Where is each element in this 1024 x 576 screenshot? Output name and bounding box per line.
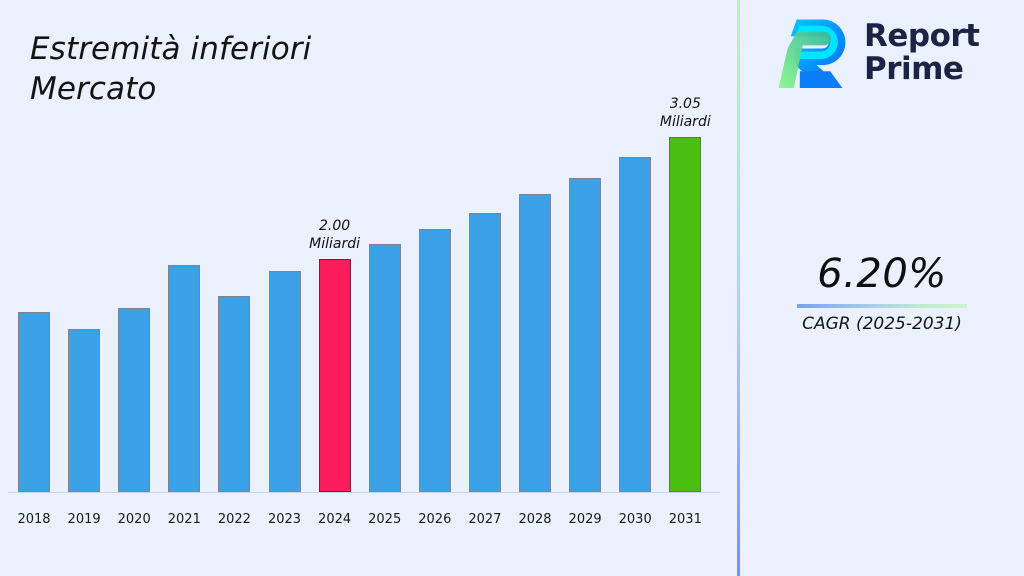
cagr-caption: CAGR (2025-2031) xyxy=(740,313,1024,335)
chart-panel: Estremità inferiori Mercato 201820192020… xyxy=(0,0,737,576)
bar-rect-2029[interactable] xyxy=(569,178,601,492)
bar-rect-2025[interactable] xyxy=(369,244,401,492)
brand-panel: Report Prime 6.20% CAGR (2025-2031) xyxy=(740,0,1024,576)
bar-rect-2019[interactable] xyxy=(68,329,100,492)
bar-rect-2028[interactable] xyxy=(519,194,551,492)
bar-rect-2030[interactable] xyxy=(619,157,651,492)
bar-rect-2024[interactable] xyxy=(319,259,351,492)
chart-title: Estremità inferiori Mercato xyxy=(30,29,670,109)
bar-plot-area: 2018201920202021202220232.00 Miliardi202… xyxy=(0,120,737,535)
bar-rect-2022[interactable] xyxy=(218,296,250,492)
bar-rect-2023[interactable] xyxy=(269,271,301,492)
cagr-value: 6.20% xyxy=(740,250,1024,298)
axis-baseline xyxy=(8,492,720,493)
bar-rect-2026[interactable] xyxy=(419,229,451,492)
cagr-block: 6.20% CAGR (2025-2031) xyxy=(740,250,1024,335)
bar-rect-2031[interactable] xyxy=(669,137,701,492)
cagr-divider-rule xyxy=(797,304,967,308)
report-prime-r-mark-icon xyxy=(776,15,854,91)
brand-name: Report Prime xyxy=(864,20,980,86)
bar-rect-2021[interactable] xyxy=(168,265,200,492)
bar-rect-2027[interactable] xyxy=(469,213,501,492)
bar-rect-2018[interactable] xyxy=(18,312,50,492)
infographic-canvas: Estremità inferiori Mercato 201820192020… xyxy=(0,0,1024,576)
bar-rect-2020[interactable] xyxy=(118,308,150,492)
report-prime-logo: Report Prime xyxy=(776,10,1006,96)
x-axis-tick-2031: 2031 xyxy=(655,512,715,527)
